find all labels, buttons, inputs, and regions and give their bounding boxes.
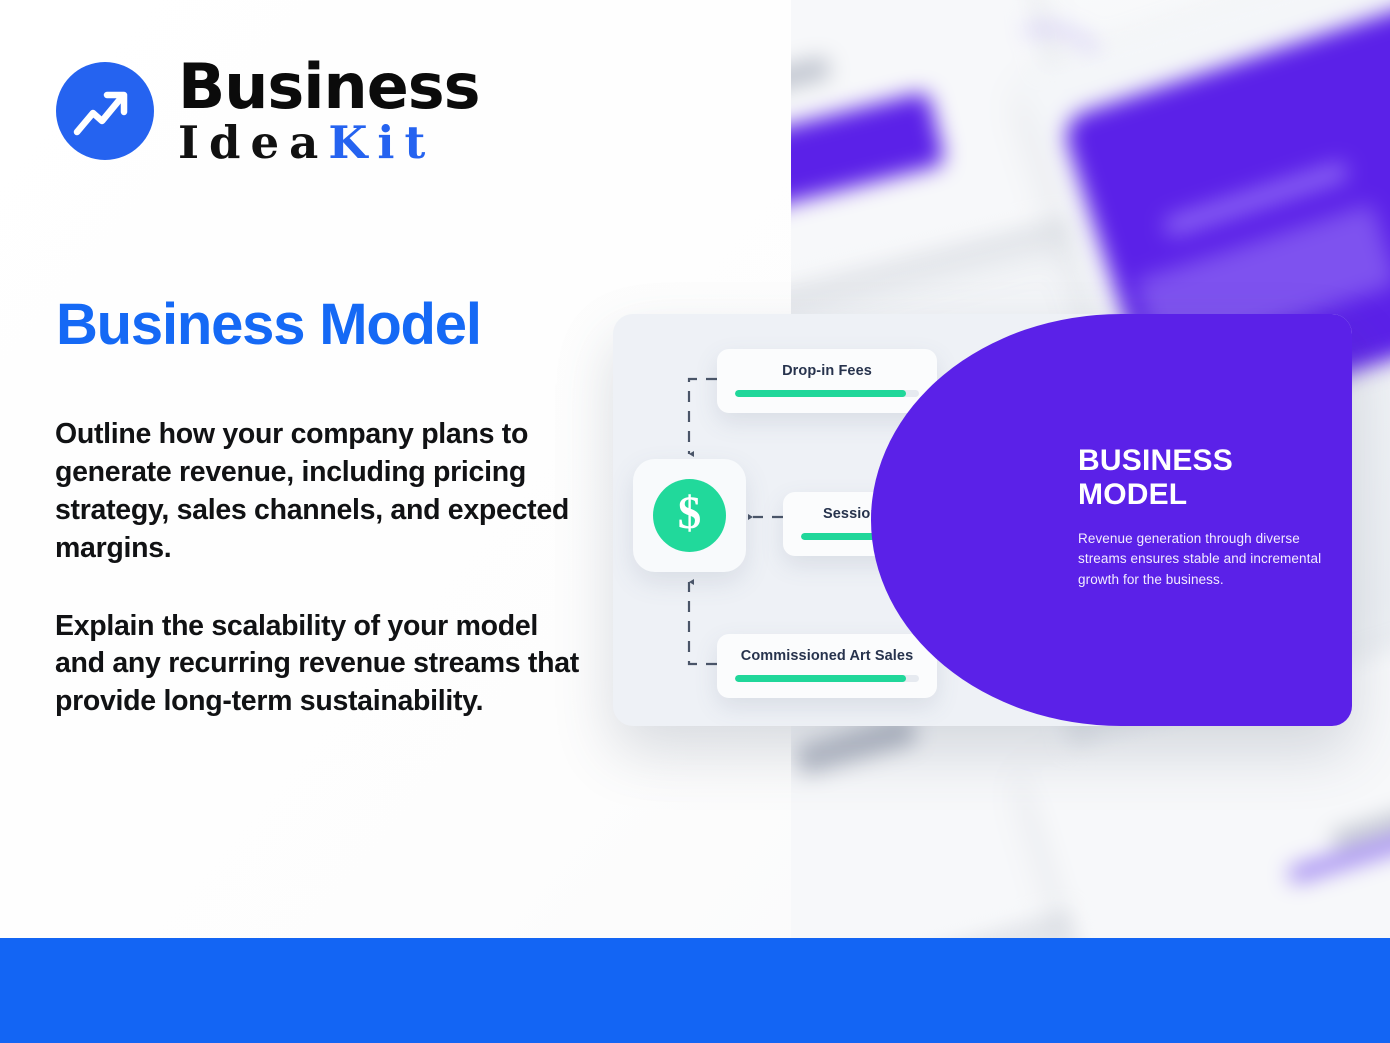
dollar-sign-icon: $ xyxy=(653,479,726,552)
page-title: Business Model xyxy=(56,295,481,356)
revenue-hub-node[interactable]: $ xyxy=(633,459,746,572)
brand-word-kit: Kit xyxy=(328,116,435,169)
body-paragraph-2: Explain the scalability of your model an… xyxy=(55,608,585,722)
footer-bar xyxy=(0,938,1390,1043)
stream-node[interactable]: Commissioned Art Sales xyxy=(717,634,937,698)
stream-progress-track xyxy=(735,675,919,682)
brand-line-business: Business xyxy=(178,56,480,118)
stream-label: Drop-in Fees xyxy=(735,363,919,379)
brand-logo[interactable]: Business IdeaKit xyxy=(56,56,480,165)
card-purple-panel: BUSINESS MODEL Revenue generation throug… xyxy=(871,314,1352,726)
body-paragraph-1: Outline how your company plans to genera… xyxy=(55,416,585,568)
body-copy: Outline how your company plans to genera… xyxy=(55,416,585,721)
card-panel-description: Revenue generation through diverse strea… xyxy=(1078,529,1328,590)
stream-progress-fill xyxy=(735,390,906,397)
brand-word-idea: Idea xyxy=(178,116,328,169)
brand-wordmark: Business IdeaKit xyxy=(178,56,480,165)
business-model-card: $ Drop-in Fees Session Workshops Commiss… xyxy=(613,314,1352,726)
stream-progress-fill xyxy=(735,675,906,682)
growth-arrow-icon xyxy=(56,62,154,160)
card-panel-title: BUSINESS MODEL xyxy=(1078,444,1328,511)
brand-line-idea-kit: IdeaKit xyxy=(178,120,480,165)
stream-label: Commissioned Art Sales xyxy=(735,648,919,664)
dollar-glyph: $ xyxy=(678,490,702,537)
stream-progress-track xyxy=(735,390,919,397)
stream-node[interactable]: Drop-in Fees xyxy=(717,349,937,413)
slide-page: Business IdeaKit Business Model Outline … xyxy=(0,0,1390,1043)
card-purple-content: BUSINESS MODEL Revenue generation throug… xyxy=(1078,444,1328,590)
